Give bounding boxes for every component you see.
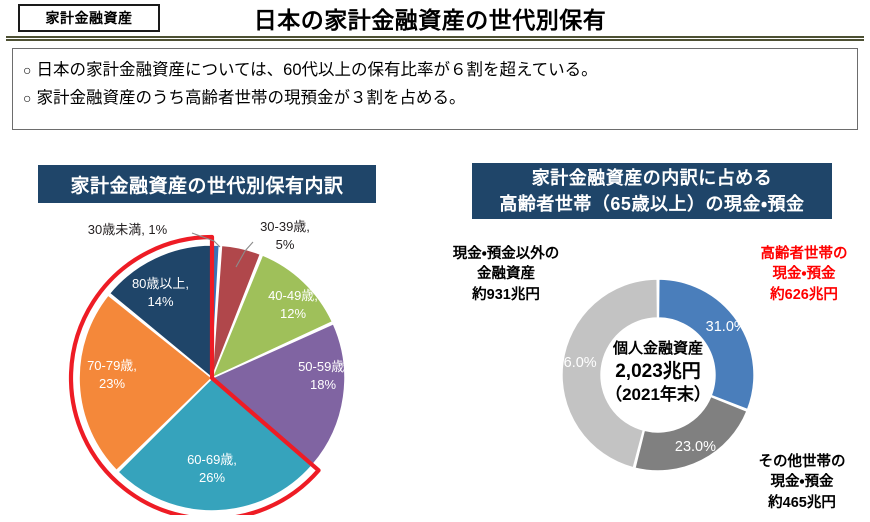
summary-bullet-1: ○ 日本の家計金融資産については、60代以上の保有比率が６割を超えている。 [23, 58, 847, 84]
right-chart-title-line1: 家計金融資産の内訳に占める [532, 165, 773, 191]
callout-other-line3: 約465兆円 [738, 493, 866, 513]
generational-holdings-pie-chart: 30歳未満, 1%30-39歳,5%40-49歳,12%50-59歳,18%60… [40, 215, 430, 515]
page-title: 日本の家計金融資産の世代別保有 [200, 2, 660, 34]
donut-percent-0: 31.0% [696, 319, 756, 335]
donut-percent-2: 46.0% [546, 355, 606, 371]
callout-other-households-cash: その他世帯の 現金・預金 約465兆円 [738, 452, 866, 513]
callout-other-line1: その他世帯の [738, 452, 866, 472]
pie-svg [40, 215, 430, 515]
summary-bullet-1-text: 日本の家計金融資産については、60代以上の保有比率が６割を超えている。 [36, 58, 597, 84]
category-tag: 家計金融資産 [18, 4, 160, 32]
page-header: 家計金融資産 日本の家計金融資産の世代別保有 [0, 0, 870, 40]
bullet-circle-icon: ○ [23, 58, 31, 83]
callout-other-line2: 現金・預金 [738, 472, 866, 492]
donut-percent-1: 23.0% [665, 439, 725, 455]
header-divider-rule [6, 36, 864, 41]
callout-non-cash-assets: 現金・預金以外の 金融資産 約931兆円 [440, 244, 572, 305]
right-chart-title-line2: 高齢者世帯（65歳以上）の現金・預金 [499, 191, 804, 217]
left-chart-title-text: 家計金融資産の世代別保有内訳 [70, 171, 343, 198]
right-chart-title: 家計金融資産の内訳に占める 高齢者世帯（65歳以上）の現金・預金 [472, 163, 832, 219]
elderly-cash-deposits-donut-chart: 個人金融資産 2,023兆円 （2021年末） 現金・預金以外の 金融資産 約9… [440, 230, 870, 522]
donut-center-line3: （2021年末） [573, 384, 743, 406]
callout-elderly-line3: 約626兆円 [740, 285, 868, 305]
callout-elderly-cash: 高齢者世帯の 現金・預金 約626兆円 [740, 244, 868, 305]
callout-elderly-line2: 現金・預金 [740, 264, 868, 284]
left-chart-title: 家計金融資産の世代別保有内訳 [38, 165, 376, 203]
callout-non-cash-line1: 現金・預金以外の [440, 244, 572, 264]
bullet-circle-icon: ○ [23, 86, 31, 111]
summary-box: ○ 日本の家計金融資産については、60代以上の保有比率が６割を超えている。 ○ … [12, 48, 858, 130]
callout-elderly-line1: 高齢者世帯の [740, 244, 868, 264]
donut-slice-1[interactable] [635, 396, 747, 471]
callout-non-cash-line3: 約931兆円 [440, 285, 572, 305]
summary-bullet-2: ○ 家計金融資産のうち高齢者世帯の現預金が３割を占める。 [23, 86, 847, 112]
summary-bullet-2-text: 家計金融資産のうち高齢者世帯の現預金が３割を占める。 [36, 86, 465, 112]
callout-non-cash-line2: 金融資産 [440, 264, 572, 284]
donut-center-total: 個人金融資産 2,023兆円 （2021年末） [573, 339, 743, 406]
